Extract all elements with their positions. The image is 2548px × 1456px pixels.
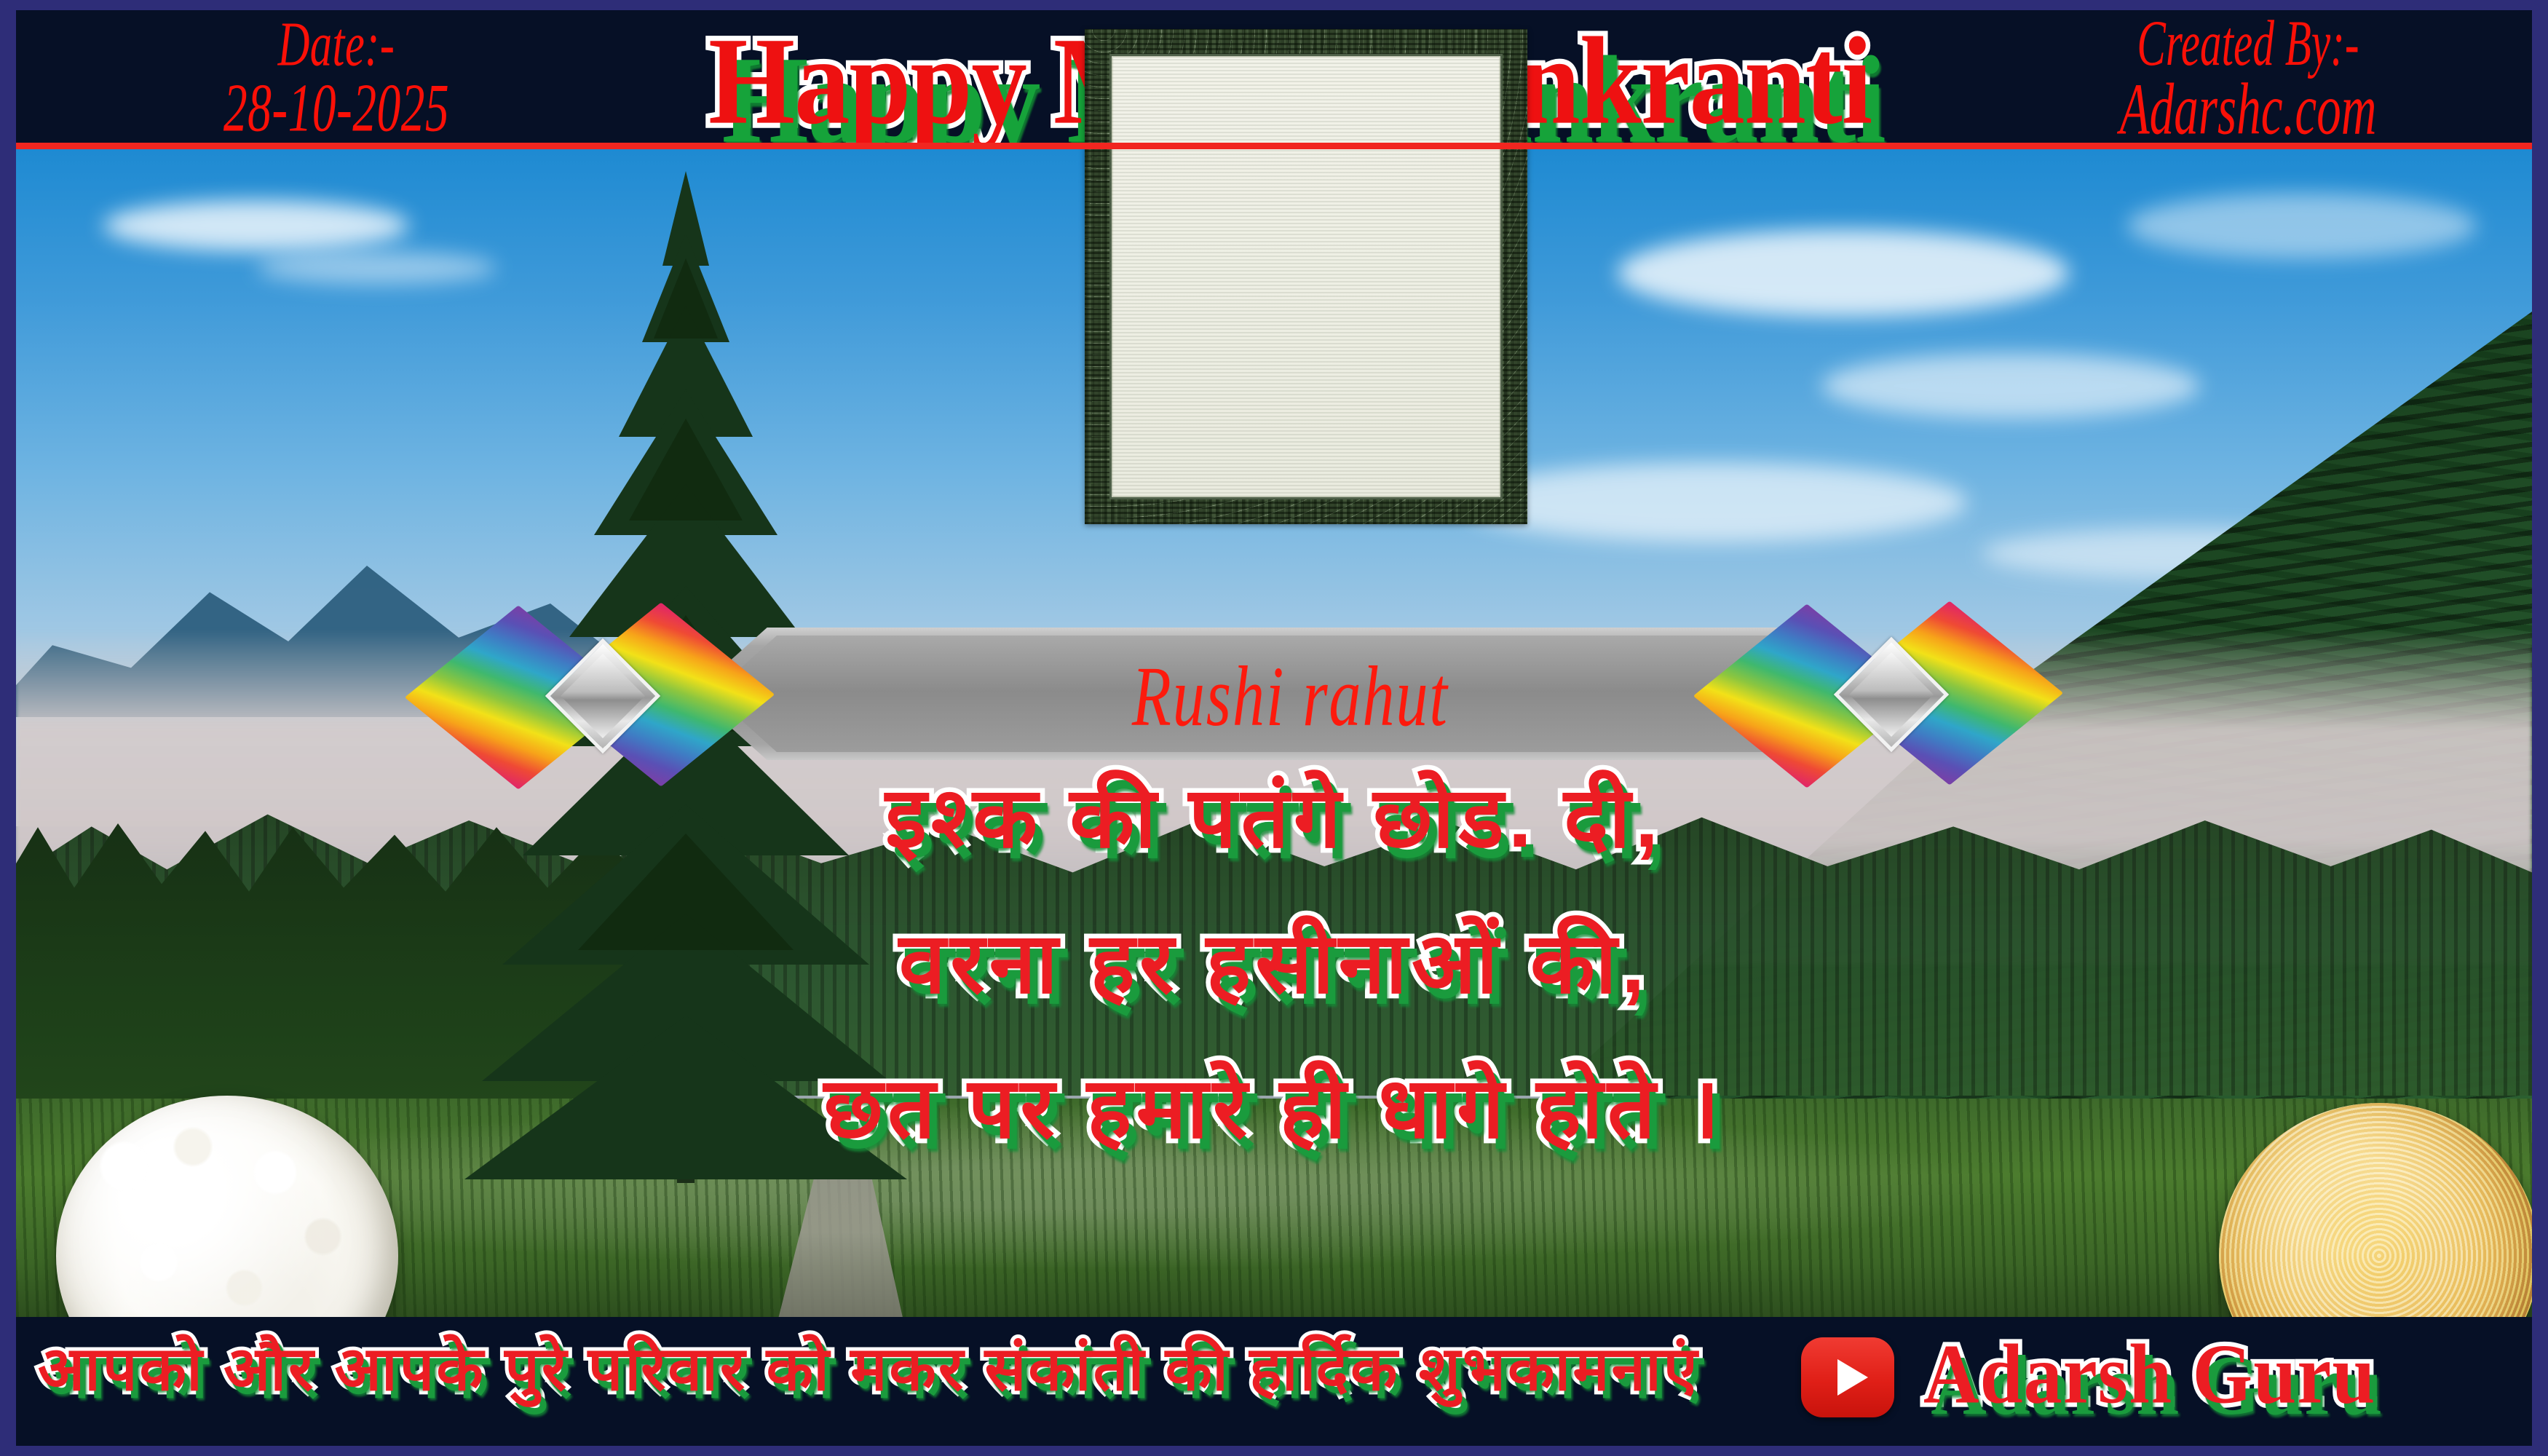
cloud (103, 200, 409, 251)
created-by-label: Created By:- (2044, 13, 2452, 75)
shayari-poem: इश्क की पतंगे छोड. दी, वरना हर हसीनाओं क… (16, 745, 2532, 1182)
greeting-card-poster: Date:- 28-10-2025 Happy Makar Sankranti … (0, 0, 2548, 1456)
footer-bar: आपको और आपके पुरे परिवार को मकर संकांती … (16, 1317, 2532, 1446)
date-value: 28-10-2025 (181, 76, 491, 142)
channel-name: Adarsh Guru (1923, 1326, 2375, 1423)
poem-line: इश्क की पतंगे छोड. दी, (16, 745, 2532, 891)
date-label: Date:- (181, 15, 491, 76)
photo-frame[interactable] (1085, 29, 1527, 524)
youtube-play-icon[interactable] (1801, 1337, 1894, 1417)
card-inner-panel: Date:- 28-10-2025 Happy Makar Sankranti … (16, 10, 2532, 1446)
cloud (2127, 193, 2477, 258)
photo-placeholder-area[interactable] (1109, 54, 1503, 499)
header-divider (16, 143, 2532, 149)
footer-greeting-text: आपको और आपके पुरे परिवार को मकर संकांती … (38, 1324, 1699, 1408)
play-triangle-icon (1837, 1359, 1868, 1396)
poem-line: छत पर हमारे ही धागे होते । (16, 1036, 2532, 1182)
cloud (1618, 229, 2069, 317)
cloud (1457, 462, 1967, 542)
created-by-value: Adarshc.com (2044, 75, 2452, 146)
cloud (1821, 353, 2200, 419)
user-name: Rushi rahut (1132, 646, 1449, 745)
created-by-block: Created By:- Adarshc.com (2044, 13, 2452, 146)
date-block: Date:- 28-10-2025 (181, 15, 491, 141)
poem-line: वरना हर हसीनाओं की, (16, 891, 2532, 1037)
